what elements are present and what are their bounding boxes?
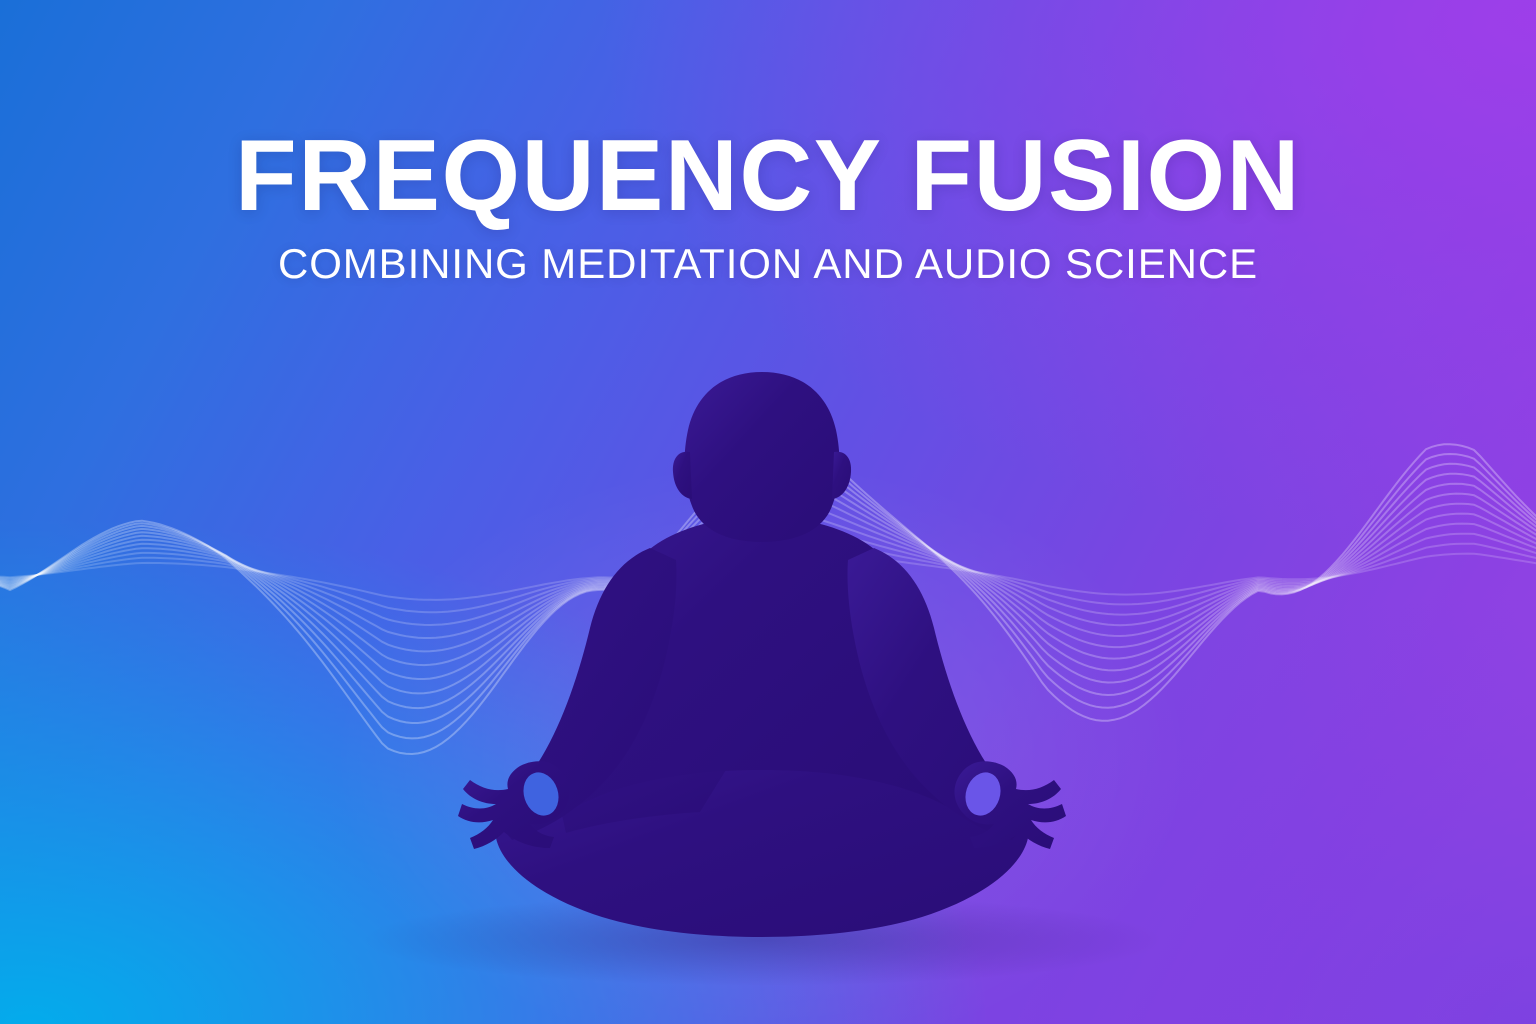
- meditating-figure-silhouette-icon: [0, 0, 1536, 1024]
- poster-canvas: FREQUENCY FUSION COMBINING MEDITATION AN…: [0, 0, 1536, 1024]
- figure-head: [685, 372, 840, 542]
